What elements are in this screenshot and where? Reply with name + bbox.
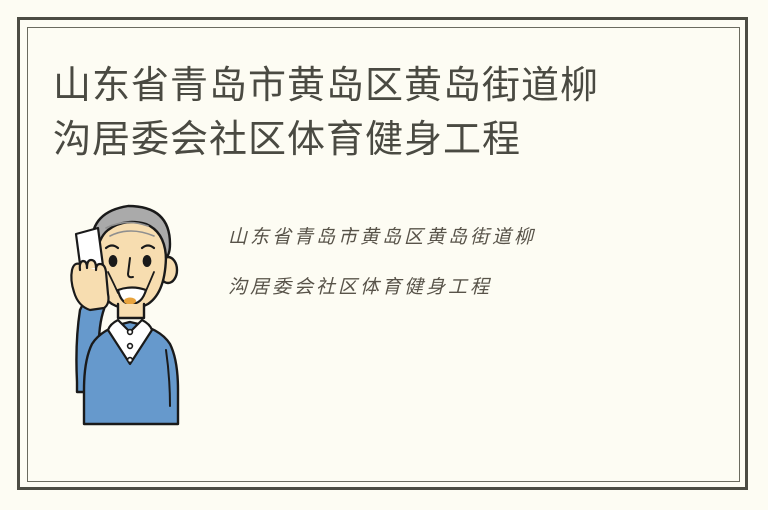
neck [118, 304, 144, 318]
title-line-1: 山东省青岛市黄岛区黄岛街道柳 [53, 59, 653, 113]
hand [71, 260, 108, 310]
tongue [124, 298, 136, 305]
shirt-button-2 [128, 344, 133, 349]
elderly-man-on-phone-illustration [58, 192, 203, 430]
shirt-button-3 [128, 358, 133, 363]
title-line-2: 沟居委会社区体育健身工程 [53, 113, 653, 167]
left-eye [109, 255, 118, 267]
page-title: 山东省青岛市黄岛区黄岛街道柳 沟居委会社区体育健身工程 [53, 59, 653, 167]
info-card: 山东省青岛市黄岛区黄岛街道柳 沟居委会社区体育健身工程 [0, 0, 768, 510]
right-eye [143, 255, 152, 267]
handwritten-caption: 山东省青岛市黄岛区黄岛街道柳 沟居委会社区体育健身工程 [228, 212, 658, 312]
caption-line-1: 山东省青岛市黄岛区黄岛街道柳 [228, 212, 658, 262]
caption-line-2: 沟居委会社区体育健身工程 [228, 262, 658, 312]
shirt-button-1 [128, 330, 133, 335]
